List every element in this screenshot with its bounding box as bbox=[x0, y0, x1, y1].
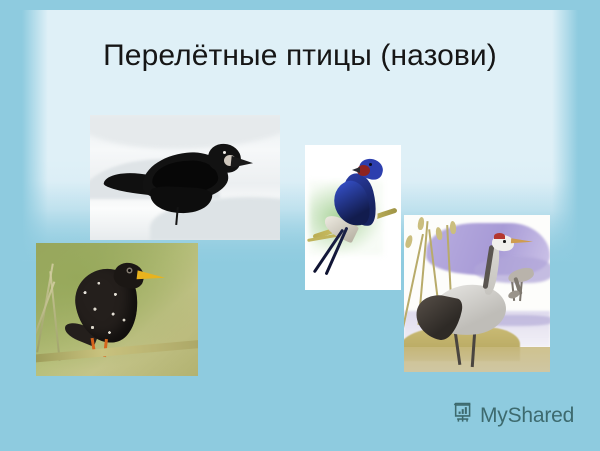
crane-reed-head bbox=[417, 217, 425, 231]
rook-eye bbox=[223, 151, 226, 154]
swallow-beak bbox=[352, 167, 360, 173]
myshared-logo-text: MyShared bbox=[480, 404, 574, 428]
crane-foreground-bank bbox=[404, 347, 550, 372]
crane-eye bbox=[503, 240, 506, 243]
crane-reed-head bbox=[450, 221, 457, 234]
rook-beak bbox=[230, 156, 253, 170]
swallow-eye bbox=[369, 163, 372, 166]
crane-illustration bbox=[404, 215, 550, 372]
swallow-illustration bbox=[305, 145, 401, 290]
presentation-slide: Перелётные птицы (назови) bbox=[0, 0, 600, 451]
rook-on-snow-photo bbox=[90, 115, 280, 240]
myshared-watermark[interactable]: MyShared bbox=[452, 402, 574, 429]
crane-red-crown bbox=[494, 233, 505, 239]
presentation-chart-icon bbox=[452, 402, 474, 429]
crane-reed-head bbox=[404, 234, 413, 248]
starling-eye bbox=[128, 269, 131, 272]
starling-photo bbox=[36, 243, 198, 376]
snow-background-top bbox=[90, 115, 280, 149]
slide-title: Перелётные птицы (назови) bbox=[0, 36, 600, 76]
